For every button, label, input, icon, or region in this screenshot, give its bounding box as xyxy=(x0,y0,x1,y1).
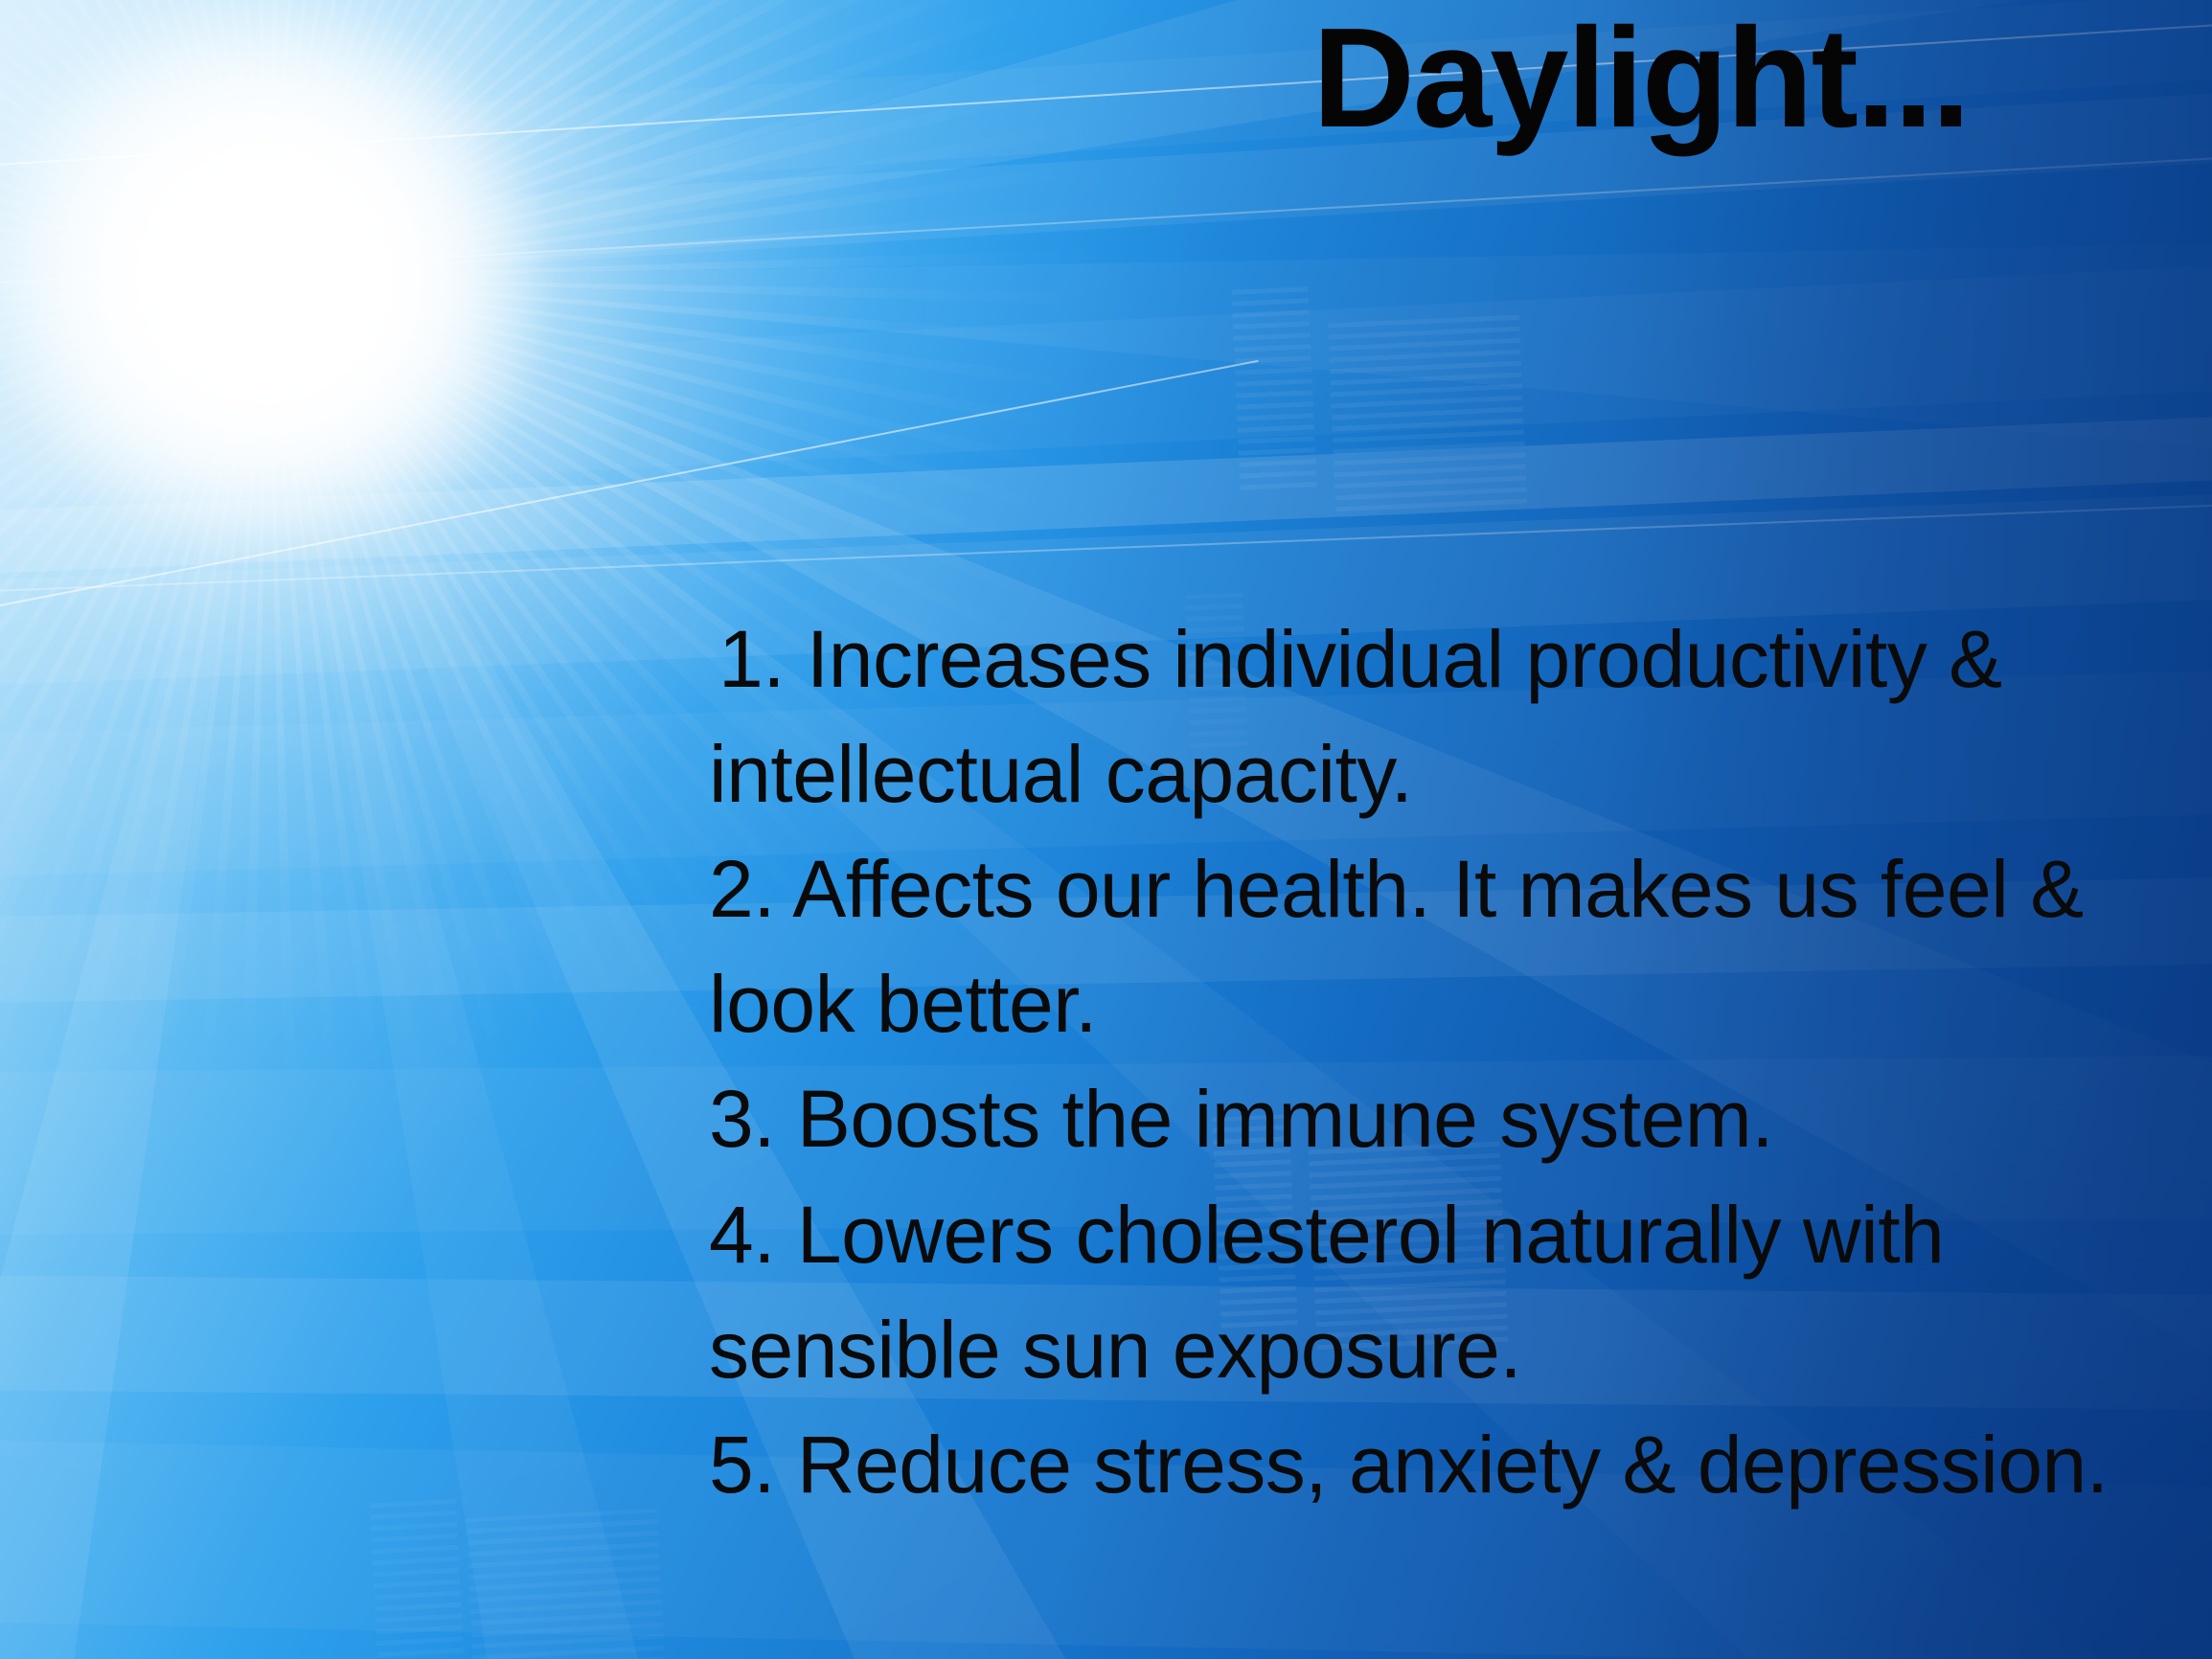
list-item: 3. Boosts the immune system. xyxy=(709,1061,2212,1176)
light-hairline xyxy=(0,360,1259,615)
list-item: 4. Lowers cholesterol naturally with sen… xyxy=(709,1177,2212,1407)
texture-block xyxy=(369,1492,464,1659)
texture-block xyxy=(466,1509,665,1659)
list-item: 1. Increases individual productivity & i… xyxy=(709,602,2212,831)
presentation-slide: Daylight... 1. Increases individual prod… xyxy=(0,0,2212,1659)
list-item: 2. Affects our health. It makes us feel … xyxy=(709,831,2212,1061)
light-hairline xyxy=(0,142,2212,289)
light-streak xyxy=(0,400,2212,580)
texture-block xyxy=(1231,285,1316,489)
light-streak xyxy=(0,247,2212,508)
texture-block xyxy=(1328,312,1528,512)
slide-body-list: 1. Increases individual productivity & i… xyxy=(709,602,2212,1522)
slide-title: Daylight... xyxy=(1312,8,2212,149)
list-item: 5. Reduce stress, anxiety & depression. xyxy=(709,1407,2212,1522)
light-hairline xyxy=(0,493,2212,596)
